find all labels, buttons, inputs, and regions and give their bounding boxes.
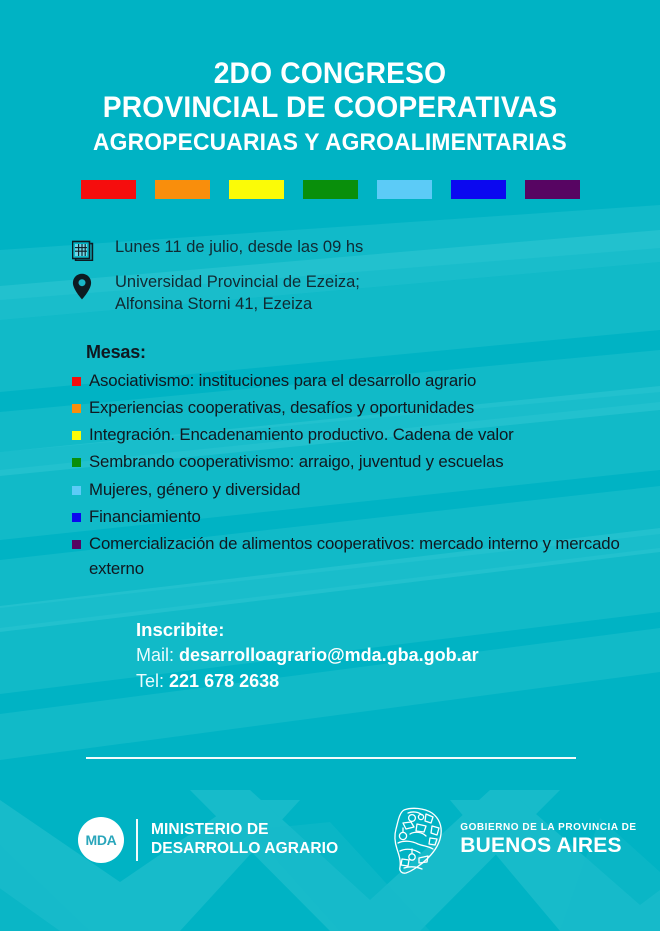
registration-heading: Inscribite: <box>136 619 660 641</box>
event-info-list: Lunes 11 de julio, desde las 09 hs Unive… <box>0 237 660 316</box>
event-place-row: Universidad Provincial de Ezeiza; Alfons… <box>72 272 660 316</box>
swatch-green <box>303 180 358 199</box>
swatch-red <box>81 180 136 199</box>
title-line-1: 2DO CONGRESO <box>20 58 640 90</box>
mesa-label: Financiamiento <box>89 504 201 529</box>
mesa-label: Integración. Encadenamiento productivo. … <box>89 422 514 447</box>
mail-label: Mail: <box>136 645 174 665</box>
tel-label: Tel: <box>136 671 164 691</box>
registration-mail-line: Mail: desarrolloagrario@mda.gba.gob.ar <box>136 643 660 669</box>
mesa-bullet-icon <box>72 404 81 413</box>
mesa-label: Sembrando cooperativismo: arraigo, juven… <box>89 449 503 474</box>
mesa-bullet-icon <box>72 377 81 386</box>
mesas-section: Mesas: Asociativismo: instituciones para… <box>0 342 660 582</box>
mesa-item: Comercialización de alimentos cooperativ… <box>72 531 630 581</box>
mesa-item: Integración. Encadenamiento productivo. … <box>72 422 630 447</box>
mesa-bullet-icon <box>72 458 81 467</box>
event-date-text: Lunes 11 de julio, desde las 09 hs <box>102 237 363 259</box>
swatch-yellow <box>229 180 284 199</box>
title-block: 2DO CONGRESO PROVINCIAL DE COOPERATIVAS … <box>0 0 660 159</box>
title-line-2: PROVINCIAL DE COOPERATIVAS <box>20 90 640 127</box>
mesa-item: Sembrando cooperativismo: arraigo, juven… <box>72 449 630 474</box>
mesa-label: Comercialización de alimentos cooperativ… <box>89 531 630 581</box>
tel-number[interactable]: 221 678 2638 <box>169 671 279 691</box>
map-pin-icon <box>72 272 102 300</box>
swatch-orange <box>155 180 210 199</box>
registration-block: Inscribite: Mail: desarrolloagrario@mda.… <box>0 619 660 694</box>
mesa-bullet-icon <box>72 513 81 522</box>
color-swatch-strip <box>0 180 660 199</box>
swatch-purple <box>525 180 580 199</box>
mesas-heading: Mesas: <box>86 342 630 363</box>
calendar-icon <box>72 237 102 261</box>
mesa-label: Mujeres, género y diversidad <box>89 477 300 502</box>
event-date-row: Lunes 11 de julio, desde las 09 hs <box>72 237 660 261</box>
mesa-item: Financiamiento <box>72 504 630 529</box>
mesa-item: Experiencias cooperativas, desafíos y op… <box>72 395 630 420</box>
mesa-bullet-icon <box>72 431 81 440</box>
mesa-item: Mujeres, género y diversidad <box>72 477 630 502</box>
event-place-text: Universidad Provincial de Ezeiza; Alfons… <box>102 272 360 316</box>
mail-address[interactable]: desarrolloagrario@mda.gba.gob.ar <box>179 645 479 665</box>
swatch-lightblue <box>377 180 432 199</box>
poster-canvas: 2DO CONGRESO PROVINCIAL DE COOPERATIVAS … <box>0 0 660 931</box>
title-line-3: AGROPECUARIAS Y AGROALIMENTARIAS <box>17 127 644 159</box>
mesa-label: Asociativismo: instituciones para el des… <box>89 368 476 393</box>
poster-content: 2DO CONGRESO PROVINCIAL DE COOPERATIVAS … <box>0 0 660 931</box>
mesa-bullet-icon <box>72 486 81 495</box>
mesa-item: Asociativismo: instituciones para el des… <box>72 368 630 393</box>
swatch-blue <box>451 180 506 199</box>
mesa-bullet-icon <box>72 540 81 549</box>
mesa-label: Experiencias cooperativas, desafíos y op… <box>89 395 474 420</box>
registration-tel-line: Tel: 221 678 2638 <box>136 669 660 695</box>
